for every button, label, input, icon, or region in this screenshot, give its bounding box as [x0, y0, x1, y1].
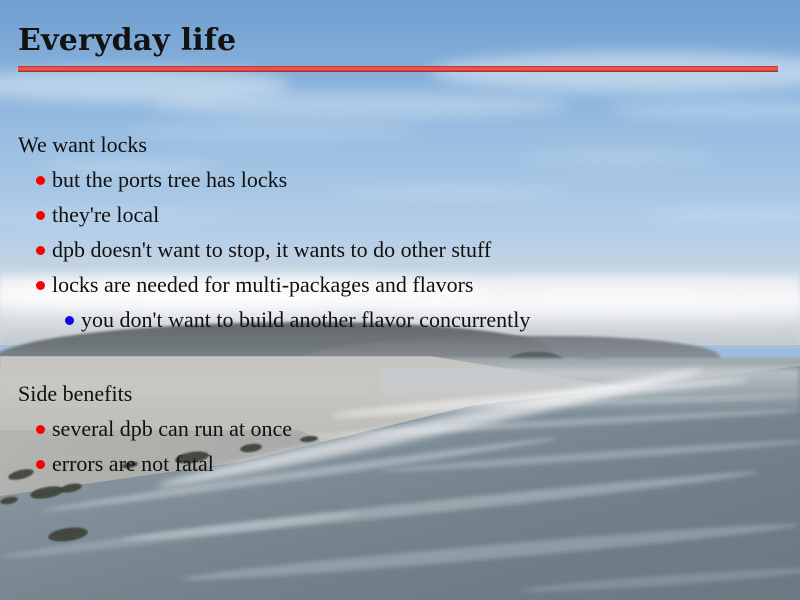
bullet-red-icon — [36, 460, 45, 469]
sub-bullet-item: you don't want to build another flavor c… — [65, 307, 530, 333]
bullet-item: errors are not fatal — [36, 451, 214, 477]
slide-content: Everyday life We want locks but the port… — [0, 0, 800, 600]
presentation-slide: Everyday life We want locks but the port… — [0, 0, 800, 600]
bullet-blue-icon — [65, 316, 74, 325]
bullet-item-label: errors are not fatal — [52, 451, 214, 477]
bullet-item: they're local — [36, 202, 159, 228]
bullet-item-label: but the ports tree has locks — [52, 167, 287, 193]
bullet-item-label: dpb doesn't want to stop, it wants to do… — [52, 237, 491, 263]
bullet-item: locks are needed for multi-packages and … — [36, 272, 474, 298]
bullet-red-icon — [36, 176, 45, 185]
bullet-red-icon — [36, 211, 45, 220]
bullet-item: several dpb can run at once — [36, 416, 292, 442]
bullet-red-icon — [36, 246, 45, 255]
slide-title: Everyday life — [18, 24, 236, 58]
section-heading: We want locks — [18, 132, 147, 158]
sub-bullet-item-label: you don't want to build another flavor c… — [81, 307, 530, 333]
bullet-item-label: several dpb can run at once — [52, 416, 292, 442]
bullet-item-label: they're local — [52, 202, 159, 228]
bullet-red-icon — [36, 425, 45, 434]
title-underline-rule — [18, 66, 778, 72]
section-heading: Side benefits — [18, 381, 132, 407]
bullet-red-icon — [36, 281, 45, 290]
bullet-item: but the ports tree has locks — [36, 167, 287, 193]
bullet-item: dpb doesn't want to stop, it wants to do… — [36, 237, 491, 263]
bullet-item-label: locks are needed for multi-packages and … — [52, 272, 474, 298]
